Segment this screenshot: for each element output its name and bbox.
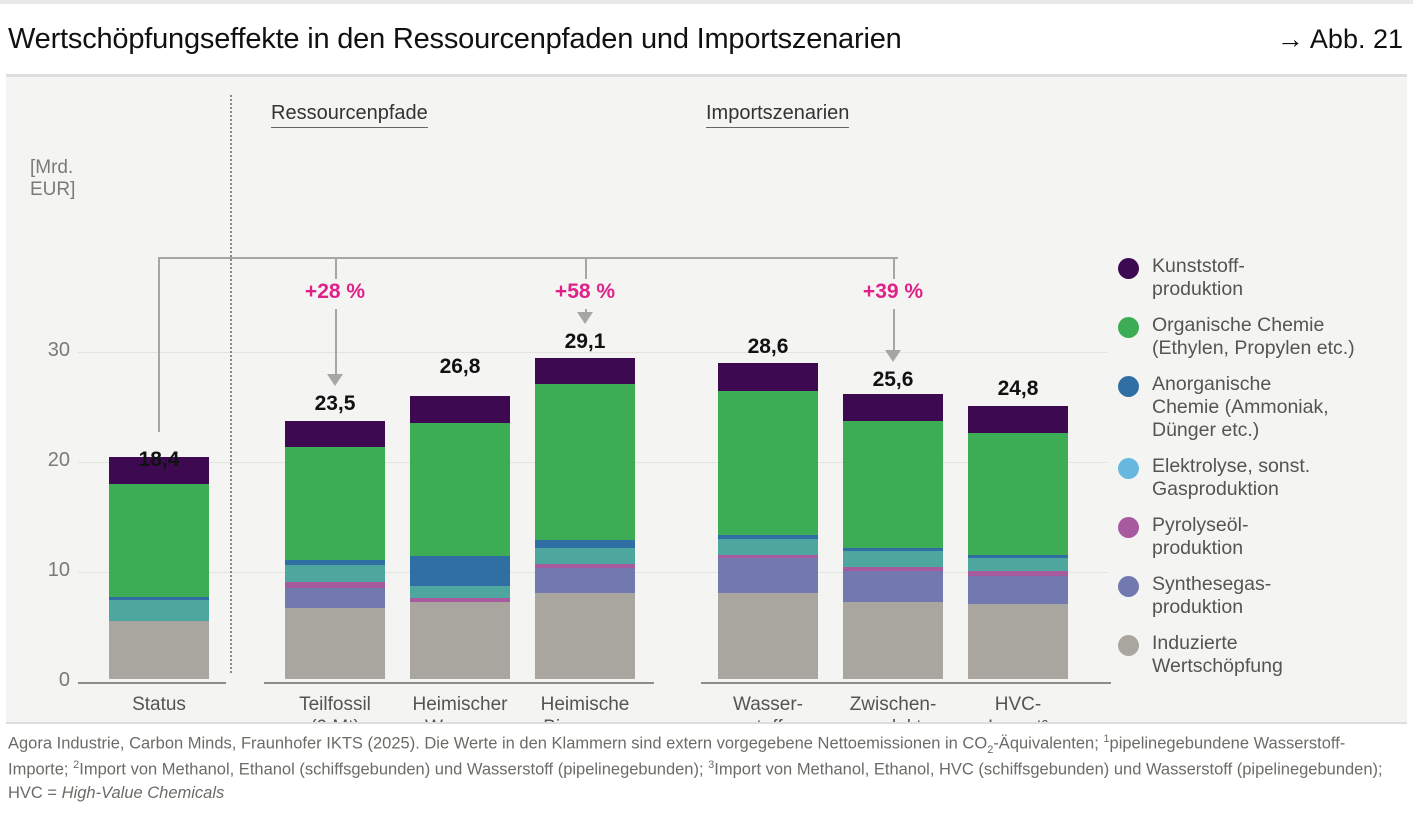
bar-1[interactable] xyxy=(285,421,385,679)
y-tick-label-10: 10 xyxy=(24,559,70,582)
x-axis-label-6: HVC- Import³ (−15 Mt) xyxy=(958,694,1078,722)
legend-item-3[interactable]: Elektrolyse, sonst. Gasproduktion xyxy=(1118,455,1398,501)
footnote-part3: Import von Methanol, Ethanol (schiffsgeb… xyxy=(79,761,708,779)
legend-item-label: Kunststoff- produktion xyxy=(1152,255,1245,301)
bar-segment xyxy=(410,556,510,586)
bar-segment xyxy=(843,421,943,549)
bar-segment xyxy=(968,433,1068,555)
arrow-down-icon xyxy=(327,374,343,386)
bar-4[interactable] xyxy=(718,363,818,679)
legend-color-swatch-icon xyxy=(1118,317,1139,338)
bar-segment xyxy=(968,576,1068,605)
bar-segment xyxy=(718,558,818,593)
figure-reference: → Abb. 21 xyxy=(1277,24,1405,55)
x-axis-label-4: Wasser- stoff- Import¹ (−15 Mt) xyxy=(708,694,828,722)
legend-item-label: Pyrolyseöl- produktion xyxy=(1152,514,1248,560)
connector-vertical xyxy=(585,257,587,279)
page-header: Wertschöpfungseffekte in den Ressourcenp… xyxy=(0,4,1413,74)
bar-total-label: 26,8 xyxy=(440,355,481,379)
bar-total-label: 24,8 xyxy=(998,377,1039,401)
bar-segment xyxy=(285,447,385,560)
legend-item-label: Anorganische Chemie (Ammoniak, Dünger et… xyxy=(1152,373,1329,442)
bar-segment xyxy=(285,588,385,608)
bar-segment xyxy=(535,540,635,548)
legend: Kunststoff- produktionOrganische Chemie … xyxy=(1118,255,1398,691)
y-axis-unit-label: [Mrd. EUR] xyxy=(30,157,75,202)
legend-item-2[interactable]: Anorganische Chemie (Ammoniak, Dünger et… xyxy=(1118,373,1398,442)
x-axis-segment-1 xyxy=(264,682,654,684)
chart-panel: Ressourcenpfade Importszenarien [Mrd. EU… xyxy=(6,74,1407,722)
legend-color-swatch-icon xyxy=(1118,458,1139,479)
connector-vertical xyxy=(893,257,895,279)
bar-segment xyxy=(843,551,943,566)
connector-horizontal xyxy=(158,257,898,259)
bar-segment xyxy=(535,568,635,593)
legend-item-label: Synthesegas- produktion xyxy=(1152,573,1271,619)
x-axis-label-3: Heimische Biomasse (−15 Mt) xyxy=(525,694,645,722)
bar-segment xyxy=(410,602,510,679)
bar-segment xyxy=(843,602,943,679)
legend-color-swatch-icon xyxy=(1118,576,1139,597)
bar-0[interactable] xyxy=(109,457,209,679)
percent-change-label: +39 % xyxy=(863,280,923,304)
x-axis-label-5: Zwischen- produkt- Import² (−15 Mt) xyxy=(833,694,953,722)
percent-change-label: +58 % xyxy=(555,280,615,304)
bar-segment xyxy=(968,558,1068,571)
percent-change-label: +28 % xyxy=(305,280,365,304)
legend-item-4[interactable]: Pyrolyseöl- produktion xyxy=(1118,514,1398,560)
footnote-line1-a: Agora Industrie, Carbon Minds, Fraunhofe… xyxy=(8,735,987,753)
bar-segment xyxy=(285,608,385,680)
bar-segment xyxy=(968,406,1068,432)
bar-segment xyxy=(285,421,385,447)
legend-color-swatch-icon xyxy=(1118,635,1139,656)
page-title: Wertschöpfungseffekte in den Ressourcenp… xyxy=(8,23,902,56)
bar-segment xyxy=(843,571,943,602)
footnote: Agora Industrie, Carbon Minds, Fraunhofe… xyxy=(6,722,1407,806)
section-divider xyxy=(230,95,232,673)
y-tick-label-0: 0 xyxy=(24,669,70,692)
connector-vertical xyxy=(335,257,337,279)
bar-segment xyxy=(535,548,635,563)
bar-2[interactable] xyxy=(410,396,510,679)
bar-segment xyxy=(285,565,385,583)
section-header-importszenarien: Importszenarien xyxy=(706,102,849,128)
bar-6[interactable] xyxy=(968,406,1068,679)
bar-3[interactable] xyxy=(535,358,635,679)
x-axis-segment-0 xyxy=(78,682,226,684)
legend-item-1[interactable]: Organische Chemie (Ethylen, Propylen etc… xyxy=(1118,314,1398,360)
bar-5[interactable] xyxy=(843,394,943,679)
bar-segment xyxy=(535,358,635,384)
bar-segment xyxy=(109,484,209,596)
x-axis-label-2: Heimischer Wasser- stoff (−15 Mt) xyxy=(400,694,520,722)
bar-segment xyxy=(718,539,818,554)
bar-total-label: 28,6 xyxy=(748,335,789,359)
x-axis-label-0: Status quo xyxy=(99,694,219,722)
legend-item-label: Organische Chemie (Ethylen, Propylen etc… xyxy=(1152,314,1355,360)
x-axis-segment-2 xyxy=(701,682,1111,684)
bar-segment xyxy=(109,621,209,679)
bar-total-label: 23,5 xyxy=(315,392,356,416)
bar-segment xyxy=(535,593,635,679)
x-axis-label-1: Teilfossil (0 Mt) xyxy=(275,694,395,722)
bar-segment xyxy=(109,600,209,621)
footnote-line1-b: -Äquivalenten; xyxy=(993,735,1099,753)
legend-color-swatch-icon xyxy=(1118,517,1139,538)
legend-item-label: Induzierte Wertschöpfung xyxy=(1152,632,1283,678)
y-tick-label-20: 20 xyxy=(24,449,70,472)
arrow-down-icon xyxy=(885,350,901,362)
connector-vertical xyxy=(893,309,895,352)
legend-color-swatch-icon xyxy=(1118,258,1139,279)
bar-total-label: 25,6 xyxy=(873,368,914,392)
bar-segment xyxy=(410,396,510,422)
legend-item-0[interactable]: Kunststoff- produktion xyxy=(1118,255,1398,301)
bar-segment xyxy=(968,604,1068,679)
bar-segment xyxy=(718,363,818,391)
y-tick-label-30: 30 xyxy=(24,339,70,362)
bar-segment xyxy=(535,384,635,540)
legend-item-5[interactable]: Synthesegas- produktion xyxy=(1118,573,1398,619)
bar-segment xyxy=(410,586,510,598)
connector-vertical xyxy=(158,257,160,432)
bar-total-label: 18,4 xyxy=(139,448,180,472)
legend-item-label: Elektrolyse, sonst. Gasproduktion xyxy=(1152,455,1310,501)
legend-color-swatch-icon xyxy=(1118,376,1139,397)
bar-segment xyxy=(718,593,818,679)
legend-item-6[interactable]: Induzierte Wertschöpfung xyxy=(1118,632,1398,678)
bar-segment xyxy=(843,394,943,420)
bar-segment xyxy=(718,391,818,535)
section-header-ressourcenpfade: Ressourcenpfade xyxy=(271,102,428,128)
bar-total-label: 29,1 xyxy=(565,330,606,354)
arrow-down-icon xyxy=(577,312,593,324)
footnote-italic-term: High-Value Chemicals xyxy=(62,784,225,802)
bar-segment xyxy=(410,423,510,556)
connector-vertical xyxy=(335,309,337,376)
